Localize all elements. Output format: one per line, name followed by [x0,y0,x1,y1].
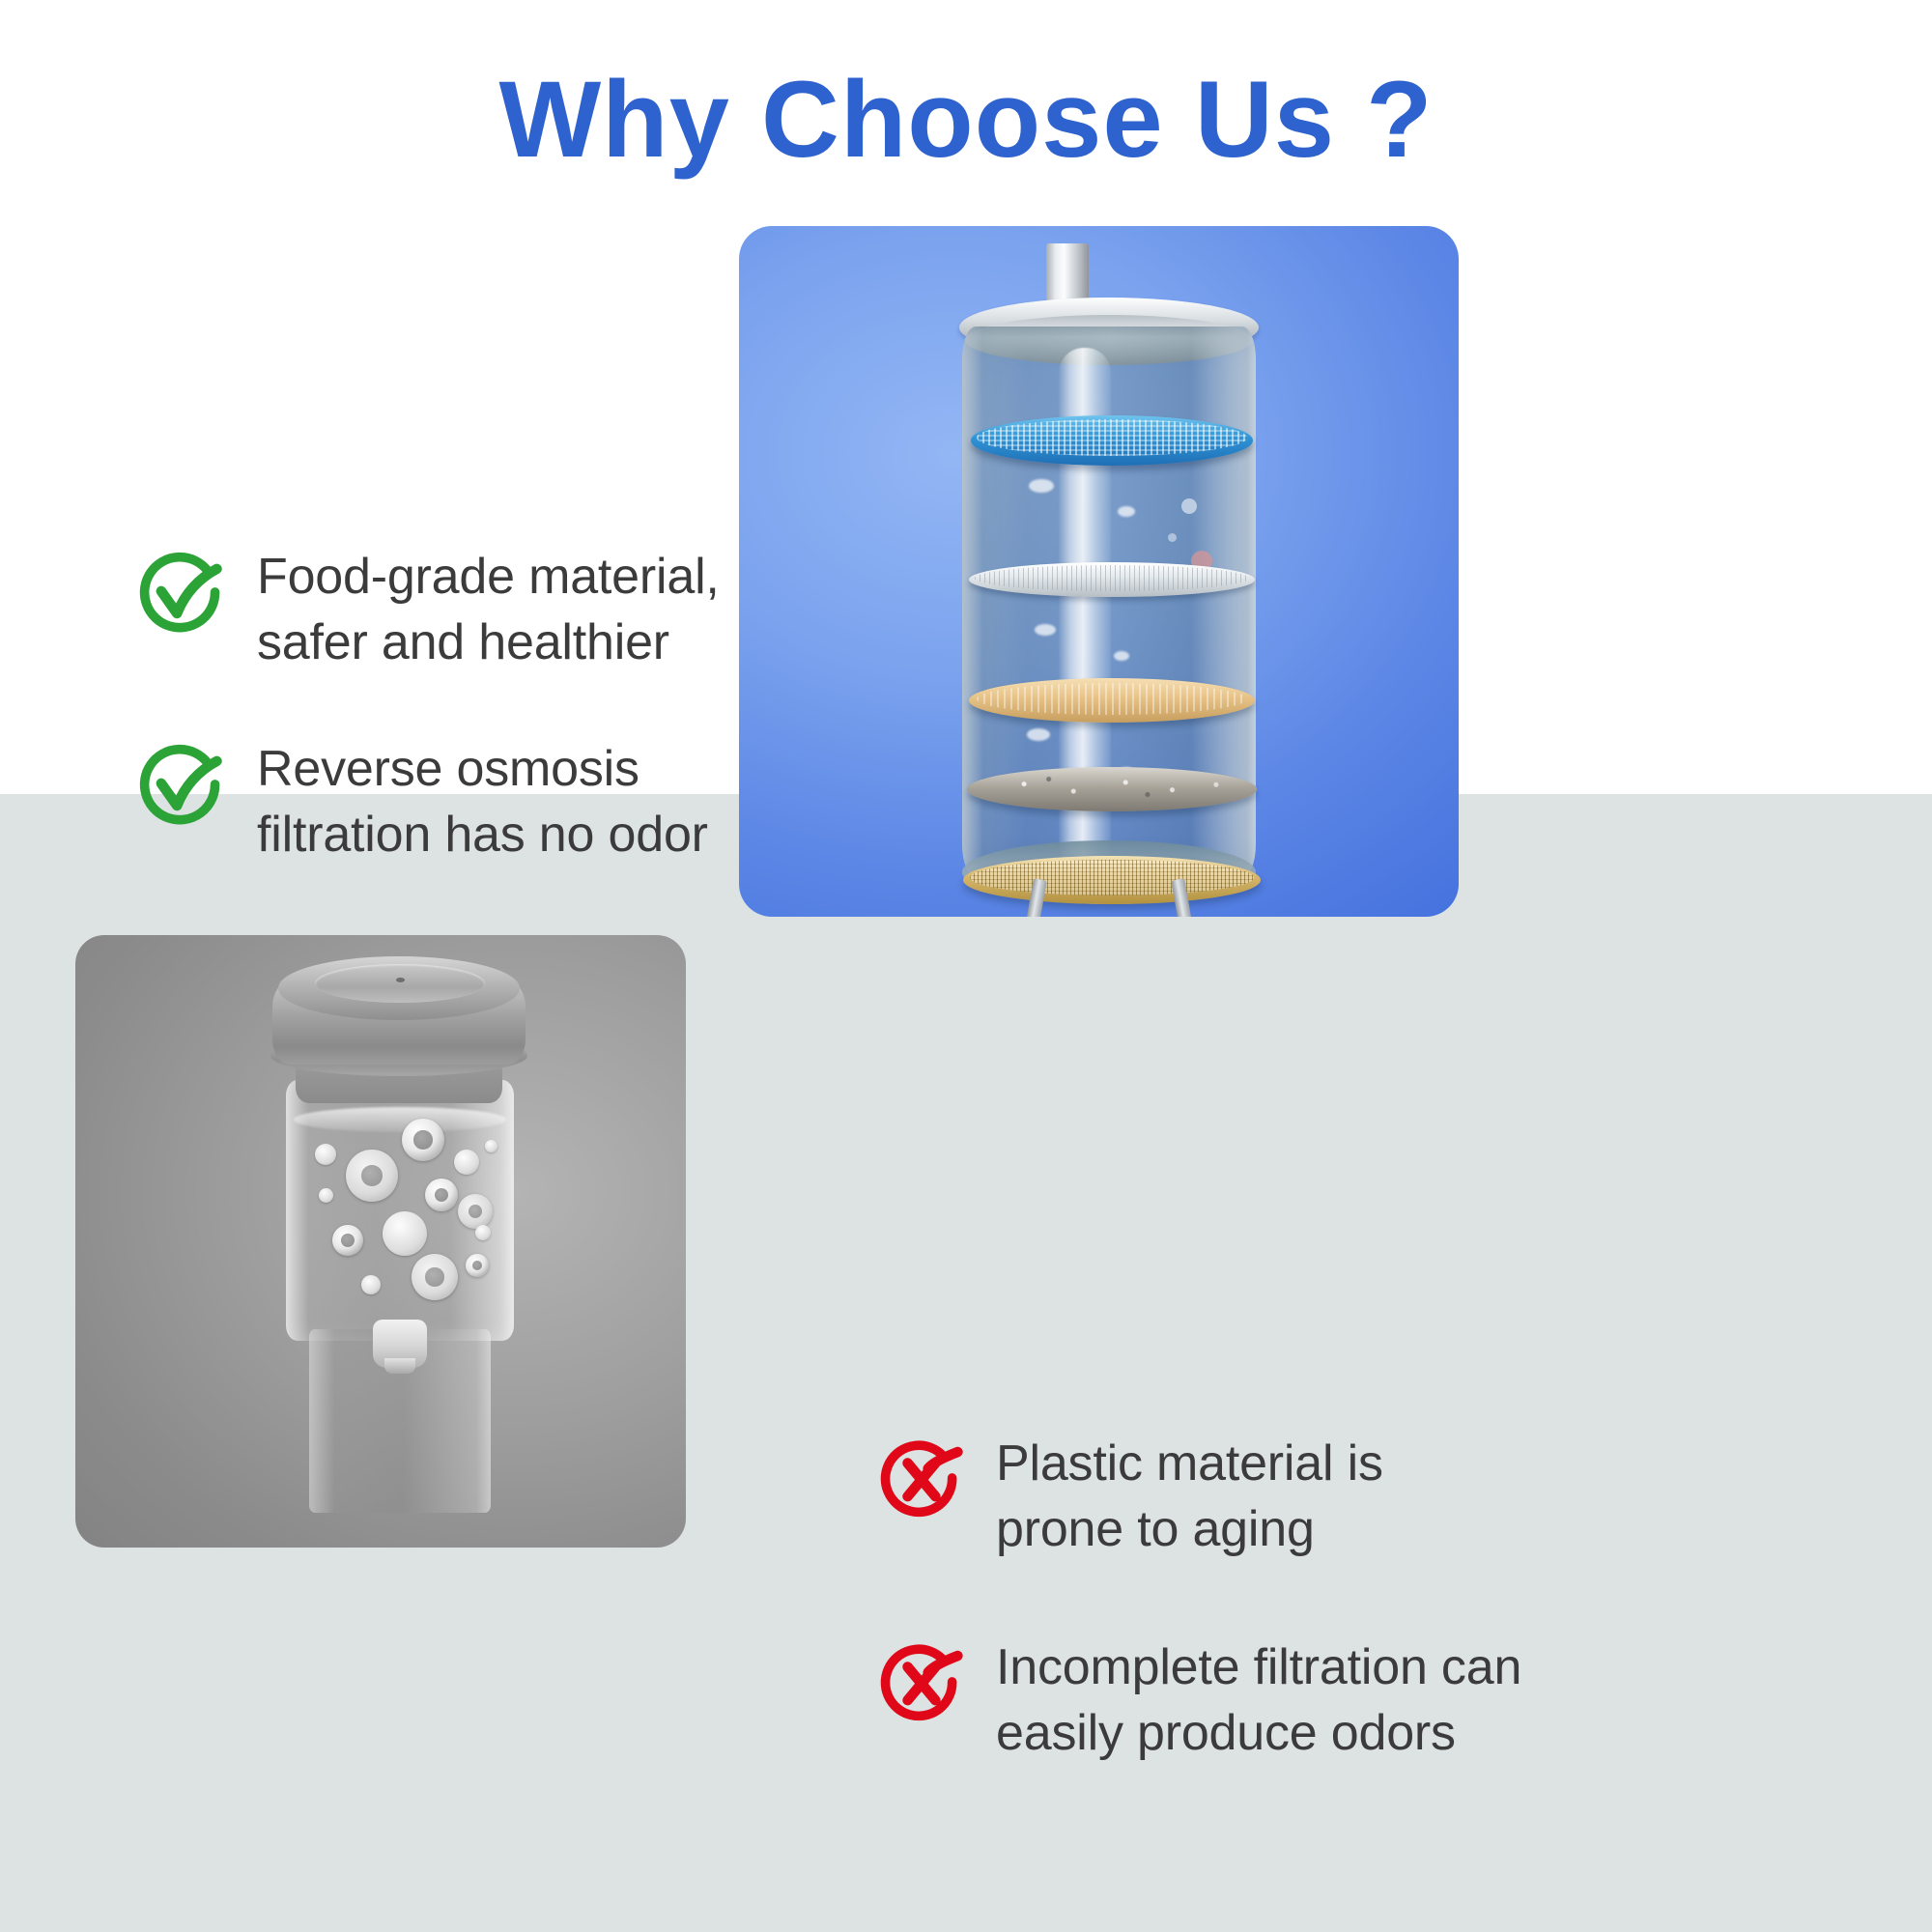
x-circle-icon [874,1430,967,1522]
ro-particle [1168,533,1177,542]
advantage-line-2: filtration has no odor [257,807,708,863]
disadvantage-item: Plastic material isprone to aging [874,1428,1850,1562]
check-circle-icon [135,735,228,828]
advantage-line-2: safer and healthier [257,614,669,670]
germ-particle [475,1225,491,1240]
ro-layer-gold-mesh-screen [963,856,1261,904]
plastic-filter-cartridge-image [75,935,686,1548]
disadvantages-list: Plastic material isprone to aging Incomp… [874,1428,1850,1835]
disadvantage-item-text: Incomplete filtration caneasily produce … [996,1632,1521,1766]
germ-particle [383,1211,427,1256]
disadvantage-line-1: Plastic material is [996,1435,1383,1492]
cartridge-outlet-tip [384,1358,415,1374]
advantage-item: Food-grade material,safer and healthier [135,541,734,675]
check-circle-icon [135,543,228,636]
germ-particle [346,1150,398,1202]
advantage-item-text: Reverse osmosisfiltration has no odor [257,733,708,867]
germ-particle [458,1194,493,1229]
germ-particle [319,1188,333,1203]
germ-particle [402,1119,444,1161]
plastic-cartridge-illustration [75,935,686,1548]
disadvantage-item: Incomplete filtration caneasily produce … [874,1632,1850,1766]
cartridge-cap-inner-ring [315,964,485,1003]
ro-layer-blue-mesh-screen [971,415,1253,466]
advantage-item: Reverse osmosisfiltration has no odor [135,733,734,867]
advantage-line-1: Reverse osmosis [257,741,639,797]
ro-particle [1181,498,1197,514]
ro-water-splash [1035,624,1056,636]
disadvantage-item-text: Plastic material isprone to aging [996,1428,1383,1562]
germ-particle [485,1140,497,1152]
reverse-osmosis-filter-image [739,226,1459,917]
ro-layer-gray-carbon [967,767,1257,811]
germ-particle [315,1144,336,1165]
ro-water-splash [1114,651,1129,661]
disadvantage-line-2: easily produce odors [996,1705,1456,1761]
germ-particle [332,1225,363,1256]
ro-water-splash [1029,479,1054,493]
ro-layer-tan-sediment [969,678,1255,723]
germ-particle [454,1150,479,1175]
page-title: Why Choose Us ? [0,56,1932,184]
ro-water-splash [1027,728,1050,741]
disadvantage-line-2: prone to aging [996,1501,1315,1557]
ro-layer-white-fine-mesh [969,562,1255,597]
advantage-item-text: Food-grade material,safer and healthier [257,541,720,675]
germ-particle [412,1254,458,1300]
cartridge-cap-vent-dot [396,978,405,982]
ro-cylinder-illustration [739,226,1459,917]
germ-particle [425,1179,458,1211]
advantage-line-1: Food-grade material, [257,549,720,605]
germ-particle [466,1254,489,1277]
cartridge-water-line [294,1107,506,1132]
advantages-list: Food-grade material,safer and healthier … [135,541,734,867]
germ-particle [361,1275,381,1294]
x-circle-icon [874,1634,967,1726]
disadvantage-line-1: Incomplete filtration can [996,1639,1521,1695]
ro-water-splash [1118,506,1135,517]
